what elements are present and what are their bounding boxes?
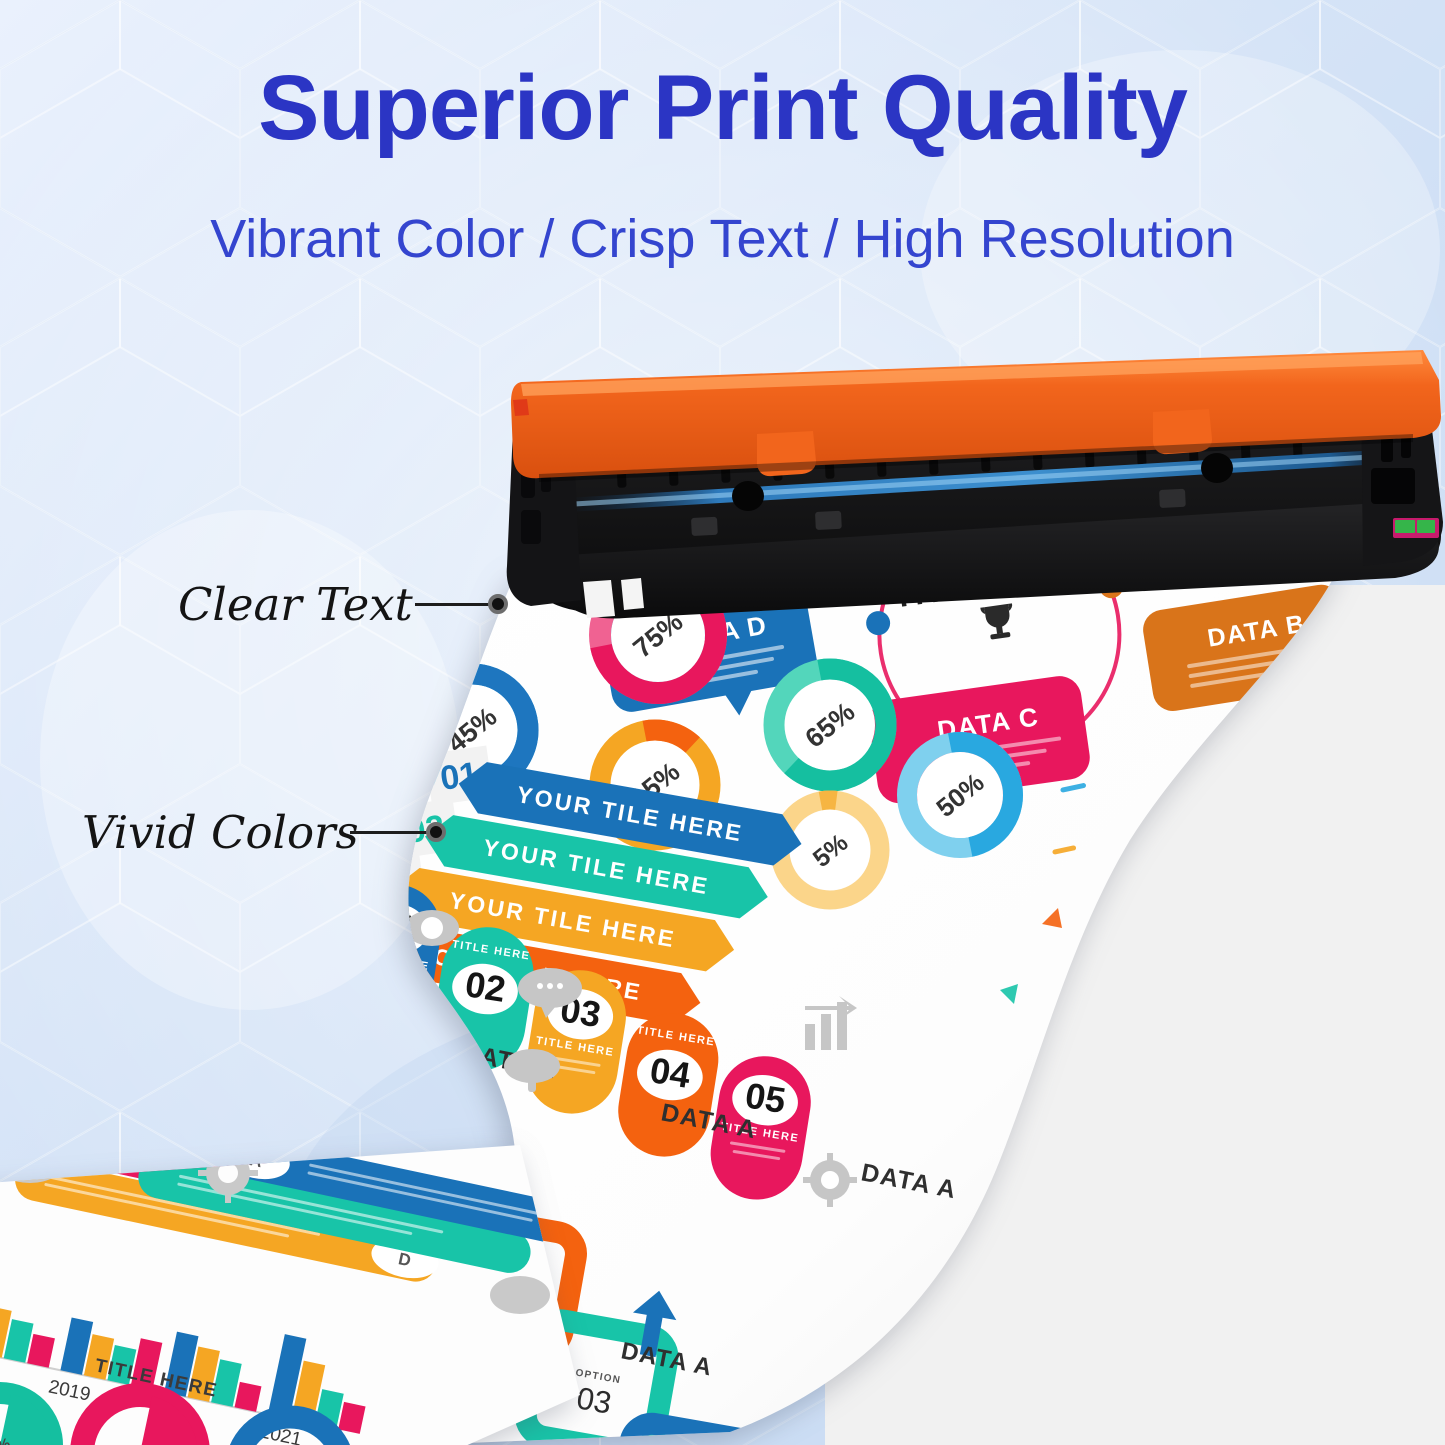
page-headline: Superior Print Quality [0, 62, 1445, 156]
svg-text:03: 03 [371, 861, 414, 904]
product-marketing-image: Superior Print Quality Vibrant Color / C… [0, 0, 1445, 1445]
svg-text:04: 04 [337, 914, 380, 957]
callout-label-vivid-colors: Vivid Colors [82, 806, 359, 859]
callout-dot-vivid-colors [426, 822, 446, 842]
callout-dot-clear-text [488, 594, 508, 614]
page-subheadline: Vibrant Color / Crisp Text / High Resolu… [0, 208, 1445, 270]
toner-drum-cartridge [495, 350, 1445, 640]
callout-label-clear-text: Clear Text [178, 578, 413, 631]
svg-text:02: 02 [462, 963, 508, 1010]
callout-leader-clear-text [415, 603, 497, 606]
svg-text:03: 03 [574, 1380, 614, 1420]
svg-text:04: 04 [647, 1049, 693, 1096]
printed-page-secondary: D C A [0, 1145, 580, 1445]
callout-leader-vivid-colors [350, 831, 434, 834]
